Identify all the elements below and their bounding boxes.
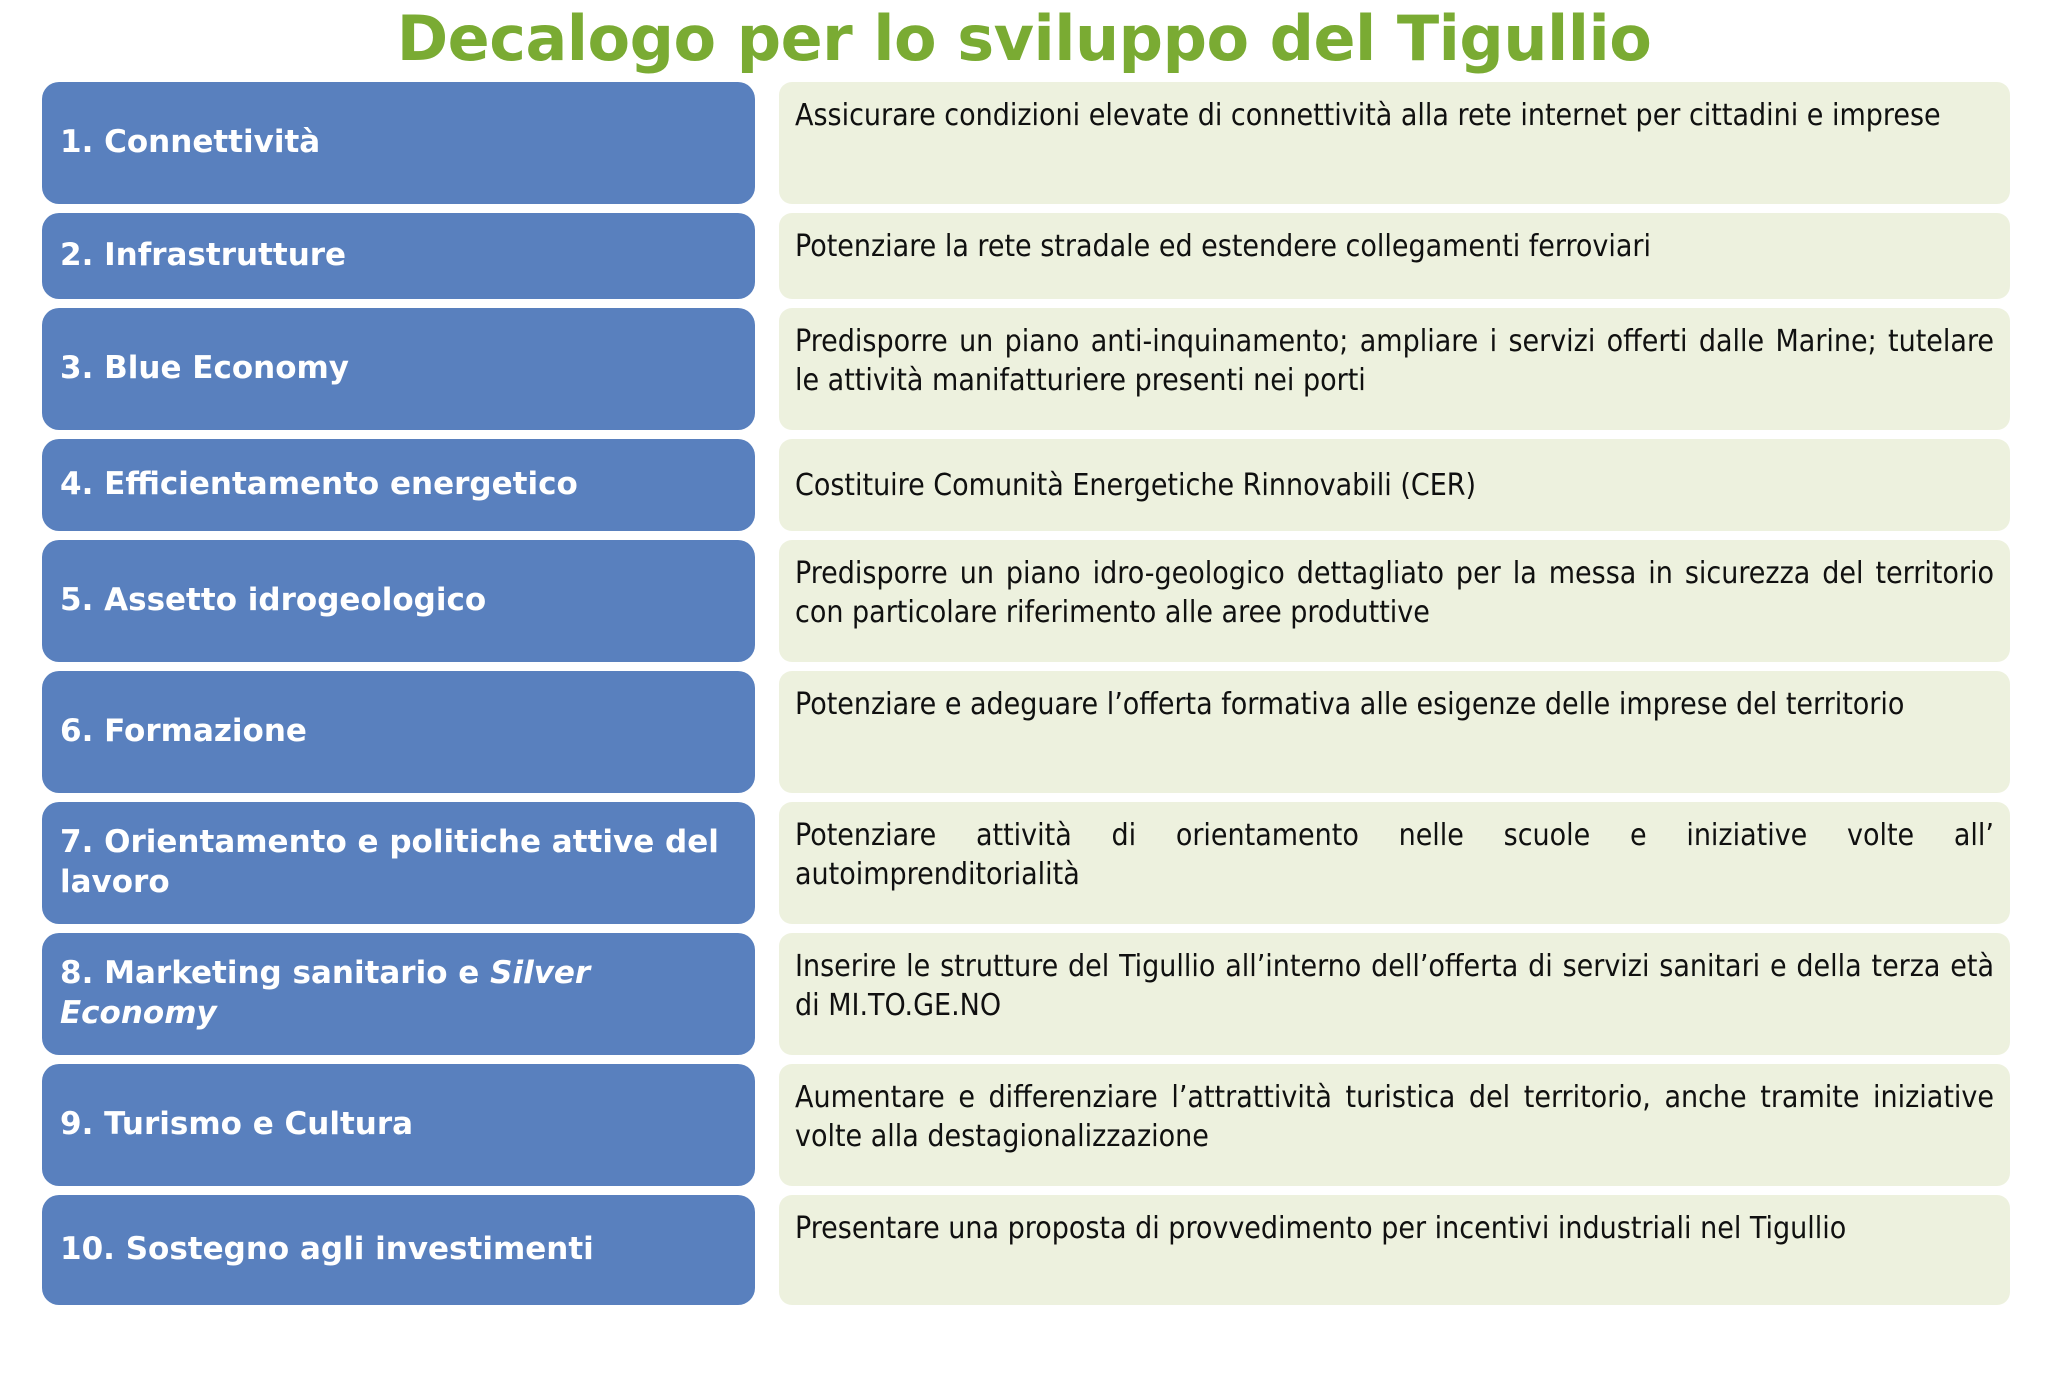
- item-description-text: Potenziare attività di orientamento nell…: [795, 816, 1994, 894]
- item-description-text: Predisporre un piano anti-inquinamento; …: [795, 322, 1994, 400]
- item-label-text: 7. Orientamento e politiche attive del l…: [60, 823, 739, 902]
- column-gap: [755, 82, 779, 204]
- item-description-9[interactable]: Aumentare e differenziare l’attrattività…: [779, 1064, 2010, 1186]
- item-label-1[interactable]: 1. Connettività: [42, 82, 755, 204]
- column-gap: [755, 213, 779, 299]
- column-gap: [755, 1195, 779, 1305]
- item-description-text: Assicurare condizioni elevate di connett…: [795, 96, 1994, 135]
- list-item: 2. Infrastrutture Potenziare la rete str…: [0, 213, 2048, 299]
- list-item: 1. Connettività Assicurare condizioni el…: [0, 82, 2048, 204]
- item-label-10[interactable]: 10. Sostegno agli investimenti: [42, 1195, 755, 1305]
- item-label-8[interactable]: 8. Marketing sanitario e Silver Economy: [42, 933, 755, 1055]
- item-description-8[interactable]: Inserire le strutture del Tigullio all’i…: [779, 933, 2010, 1055]
- item-description-text: Aumentare e differenziare l’attrattività…: [795, 1078, 1994, 1156]
- column-gap: [755, 1064, 779, 1186]
- column-gap: [755, 540, 779, 662]
- item-description-7[interactable]: Potenziare attività di orientamento nell…: [779, 802, 2010, 924]
- item-description-5[interactable]: Predisporre un piano idro-geologico dett…: [779, 540, 2010, 662]
- item-description-text: Potenziare la rete stradale ed estendere…: [795, 227, 1994, 266]
- item-label-6[interactable]: 6. Formazione: [42, 671, 755, 793]
- item-description-4[interactable]: Costituire Comunità Energetiche Rinnovab…: [779, 439, 2010, 531]
- list-item: 7. Orientamento e politiche attive del l…: [0, 802, 2048, 924]
- item-label-text: 2. Infrastrutture: [60, 236, 346, 276]
- list-item: 9. Turismo e Cultura Aumentare e differe…: [0, 1064, 2048, 1186]
- list-item: 4. Efficientamento energetico Costituire…: [0, 439, 2048, 531]
- list-item: 5. Assetto idrogeologico Predisporre un …: [0, 540, 2048, 662]
- item-label-prefix: 8. Marketing sanitario e: [60, 955, 490, 991]
- item-label-text: 9. Turismo e Cultura: [60, 1105, 413, 1145]
- list-item: 8. Marketing sanitario e Silver Economy …: [0, 933, 2048, 1055]
- list-item: 10. Sostegno agli investimenti Presentar…: [0, 1195, 2048, 1305]
- item-description-2[interactable]: Potenziare la rete stradale ed estendere…: [779, 213, 2010, 299]
- list-item: 6. Formazione Potenziare e adeguare l’of…: [0, 671, 2048, 793]
- column-gap: [755, 802, 779, 924]
- item-description-text: Costituire Comunità Energetiche Rinnovab…: [795, 466, 1994, 505]
- item-label-9[interactable]: 9. Turismo e Cultura: [42, 1064, 755, 1186]
- column-gap: [755, 671, 779, 793]
- item-description-10[interactable]: Presentare una proposta di provvedimento…: [779, 1195, 2010, 1305]
- item-label-text: 1. Connettività: [60, 123, 320, 163]
- item-label-text: 10. Sostegno agli investimenti: [60, 1230, 594, 1270]
- item-description-text: Potenziare e adeguare l’offerta formativ…: [795, 685, 1994, 724]
- column-gap: [755, 439, 779, 531]
- item-label-4[interactable]: 4. Efficientamento energetico: [42, 439, 755, 531]
- item-description-text: Presentare una proposta di provvedimento…: [795, 1209, 1994, 1248]
- item-label-text: 6. Formazione: [60, 712, 307, 752]
- item-description-text: Predisporre un piano idro-geologico dett…: [795, 554, 1994, 632]
- item-label-2[interactable]: 2. Infrastrutture: [42, 213, 755, 299]
- item-description-6[interactable]: Potenziare e adeguare l’offerta formativ…: [779, 671, 2010, 793]
- item-label-3[interactable]: 3. Blue Economy: [42, 308, 755, 430]
- column-gap: [755, 933, 779, 1055]
- item-label-5[interactable]: 5. Assetto idrogeologico: [42, 540, 755, 662]
- item-label-text: 3. Blue Economy: [60, 349, 349, 389]
- decalogo-list: 1. Connettività Assicurare condizioni el…: [0, 82, 2048, 1305]
- item-label-7[interactable]: 7. Orientamento e politiche attive del l…: [42, 802, 755, 924]
- column-gap: [755, 308, 779, 430]
- item-label-text: 4. Efficientamento energetico: [60, 465, 578, 505]
- page-title: Decalogo per lo sviluppo del Tigullio: [0, 0, 2048, 70]
- slide-canvas: Decalogo per lo sviluppo del Tigullio 1.…: [0, 0, 2048, 1383]
- item-description-1[interactable]: Assicurare condizioni elevate di connett…: [779, 82, 2010, 204]
- item-description-3[interactable]: Predisporre un piano anti-inquinamento; …: [779, 308, 2010, 430]
- item-label-text: 8. Marketing sanitario e Silver Economy: [60, 954, 739, 1033]
- item-label-text: 5. Assetto idrogeologico: [60, 581, 486, 621]
- item-description-text: Inserire le strutture del Tigullio all’i…: [795, 947, 1994, 1025]
- list-item: 3. Blue Economy Predisporre un piano ant…: [0, 308, 2048, 430]
